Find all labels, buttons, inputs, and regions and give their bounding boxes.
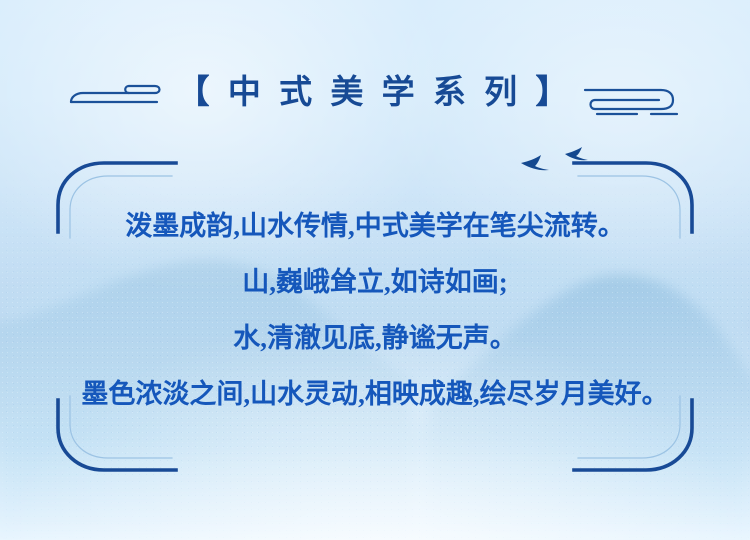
- bird-icon-2: [565, 147, 588, 160]
- flying-birds: [515, 143, 615, 183]
- poem-line-4: 墨色浓淡之间,山水灵动,相映成趣,绘尽岁月美好。: [0, 366, 750, 422]
- bird-icon-1: [521, 155, 549, 170]
- poster-canvas: 【 中 式 美 学 系 列 】: [0, 0, 750, 540]
- cloud-scroll-right-icon: [579, 81, 681, 119]
- poem-line-2: 山,巍峨耸立,如诗如画;: [0, 254, 750, 310]
- page-title: 【 中 式 美 学 系 列 】: [175, 77, 576, 110]
- poem-line-3: 水,清澈见底,静谧无声。: [0, 310, 750, 366]
- poem-line-1: 泼墨成韵,山水传情,中式美学在笔尖流转。: [0, 198, 750, 254]
- mountain-front-haze: [0, 421, 750, 540]
- cloud-scroll-left-icon: [69, 78, 171, 116]
- poster-header: 【 中 式 美 学 系 列 】: [0, 62, 750, 124]
- poem-block: 泼墨成韵,山水传情,中式美学在笔尖流转。 山,巍峨耸立,如诗如画; 水,清澈见底…: [0, 198, 750, 422]
